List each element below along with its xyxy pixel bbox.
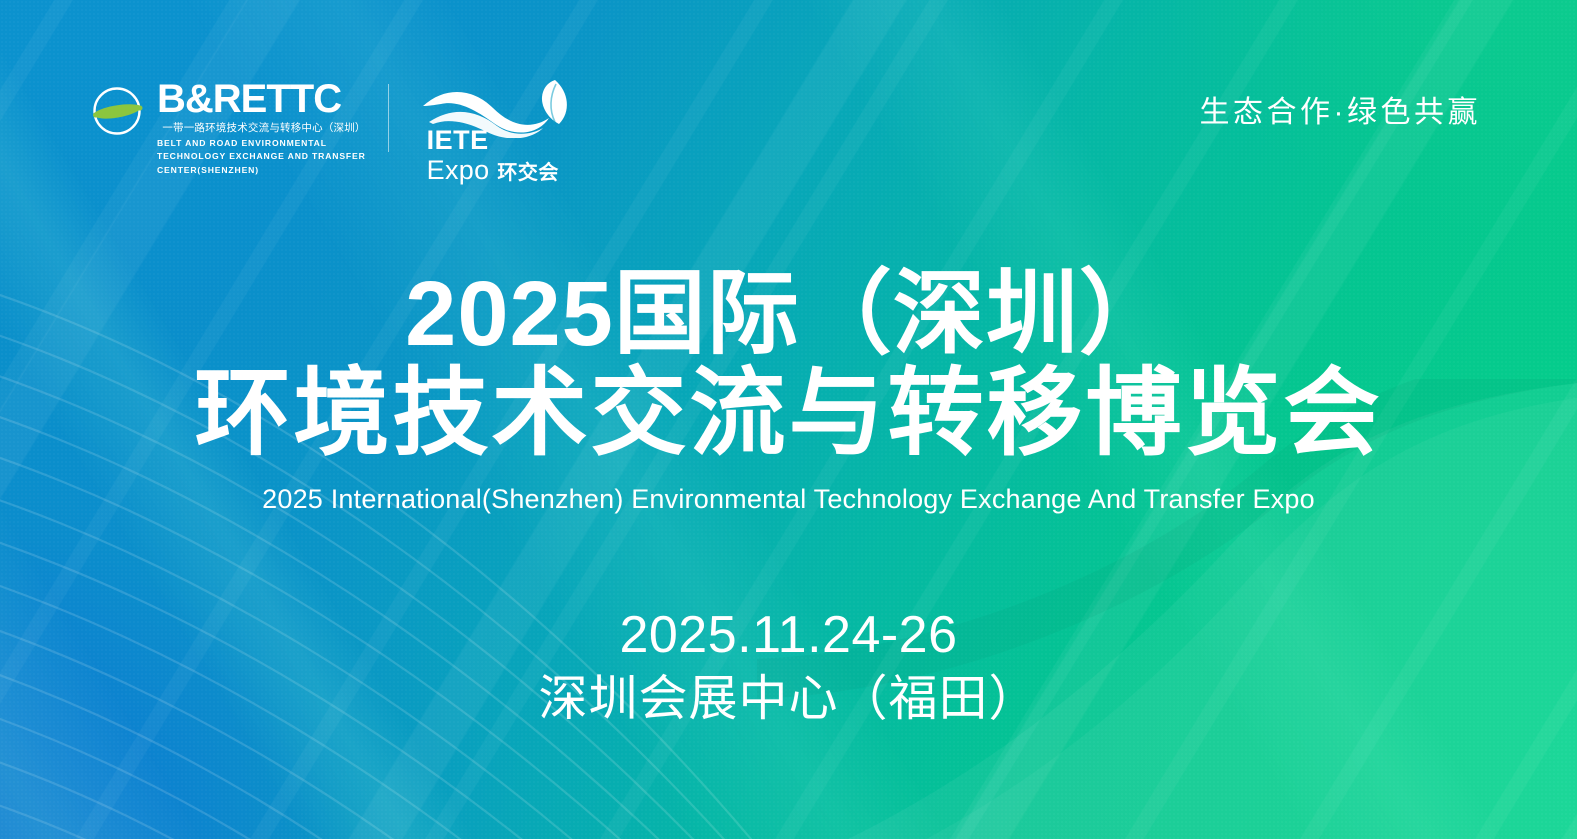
- banner-header: B&RETTC 一带一路环境技术交流与转移中心（深圳） BELT AND ROA…: [0, 78, 1577, 180]
- brettc-english-line-2: TECHNOLOGY EXCHANGE AND TRANSFER: [157, 151, 366, 162]
- iete-line-2-row: Expo 环交会: [427, 155, 559, 188]
- event-venue: 深圳会展中心（福田）: [0, 668, 1577, 730]
- brettc-text-block: B&RETTC 一带一路环境技术交流与转移中心（深圳） BELT AND ROA…: [157, 78, 366, 176]
- brettc-logo: B&RETTC 一带一路环境技术交流与转移中心（深圳） BELT AND ROA…: [88, 78, 366, 176]
- brettc-chinese-name: 一带一路环境技术交流与转移中心（深圳）: [157, 121, 366, 136]
- brettc-english-line-1: BELT AND ROAD ENVIRONMENTAL: [157, 138, 366, 149]
- iete-expo-word: Expo: [427, 155, 490, 185]
- title-line-1: 2025国际（深圳）: [0, 262, 1577, 366]
- brettc-wordmark: B&RETTC: [157, 78, 366, 120]
- iete-expo-logo: IETE Expo 环交会: [419, 78, 577, 180]
- globe-ring-icon: [88, 82, 148, 140]
- iete-letters: IETE Expo 环交会: [427, 126, 559, 188]
- event-banner: B&RETTC 一带一路环境技术交流与转移中心（深圳） BELT AND ROA…: [0, 0, 1577, 839]
- subtitle-english: 2025 International(Shenzhen) Environment…: [0, 482, 1577, 516]
- iete-chinese-abbrev: 环交会: [497, 158, 559, 188]
- brettc-english-line-3: CENTER(SHENZHEN): [157, 165, 366, 176]
- banner-info-block: 2025.11.24-26 深圳会展中心（福田）: [0, 604, 1577, 730]
- event-date: 2025.11.24-26: [0, 604, 1577, 666]
- title-line-2: 环境技术交流与转移博览会: [0, 360, 1577, 468]
- banner-main-title: 2025国际（深圳） 环境技术交流与转移博览会 2025 Internation…: [0, 262, 1577, 516]
- iete-line-1: IETE: [427, 126, 559, 154]
- logo-divider: [388, 84, 389, 152]
- banner-slogan: 生态合作·绿色共赢: [1200, 78, 1482, 130]
